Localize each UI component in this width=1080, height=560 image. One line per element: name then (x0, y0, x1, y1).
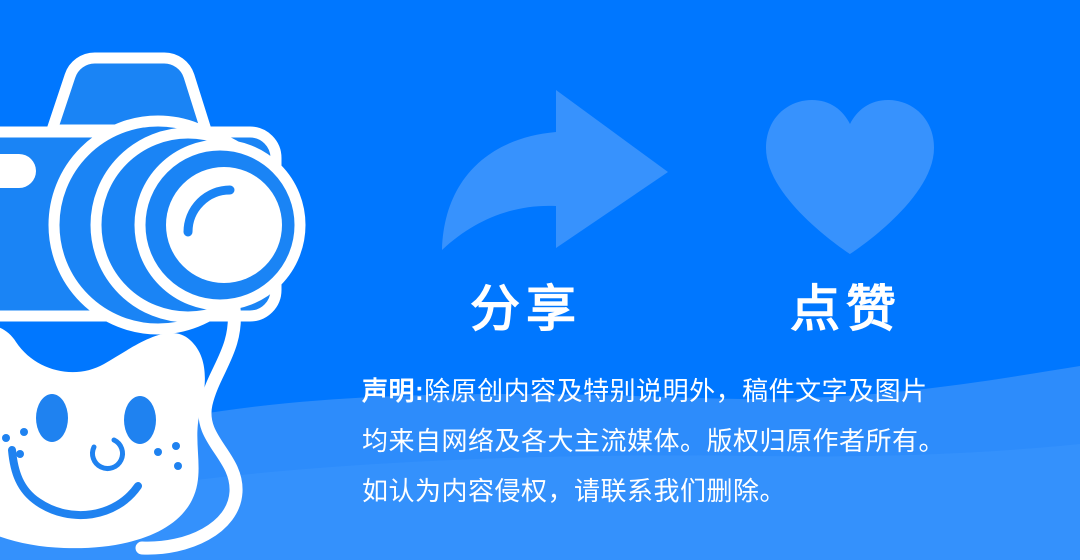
share-label[interactable]: 分享 (470, 284, 582, 334)
cat-eye-left (36, 394, 68, 442)
like-label[interactable]: 点赞 (790, 284, 902, 334)
disclaimer-line-1: 声明:除原创内容及特别说明外，稿件文字及图片 (362, 366, 1062, 416)
disclaimer-block: 声明:除原创内容及特别说明外，稿件文字及图片 均来自网络及各大主流媒体。版权归原… (362, 366, 1062, 516)
cat-group (0, 308, 236, 548)
camera-lens-glass (166, 167, 282, 283)
camera-cat-mascot (0, 20, 322, 560)
heart-icon[interactable] (760, 96, 940, 258)
cat-eye-right (124, 396, 156, 444)
promo-banner: 分享 点赞 声明:除原创内容及特别说明外，稿件文字及图片 均来自网络及各大主流媒… (0, 0, 1080, 560)
camera-flash (0, 154, 36, 188)
disclaimer-line-1-text: 除原创内容及特别说明外，稿件文字及图片 (424, 376, 928, 406)
camera-body-group (0, 58, 300, 329)
share-arrow-icon[interactable] (432, 84, 672, 256)
disclaimer-line-3: 如认为内容侵权，请联系我们删除。 (362, 466, 1062, 516)
disclaimer-lead: 声明: (362, 376, 424, 406)
disclaimer-line-2: 均来自网络及各大主流媒体。版权归原作者所有。 (362, 416, 1062, 466)
